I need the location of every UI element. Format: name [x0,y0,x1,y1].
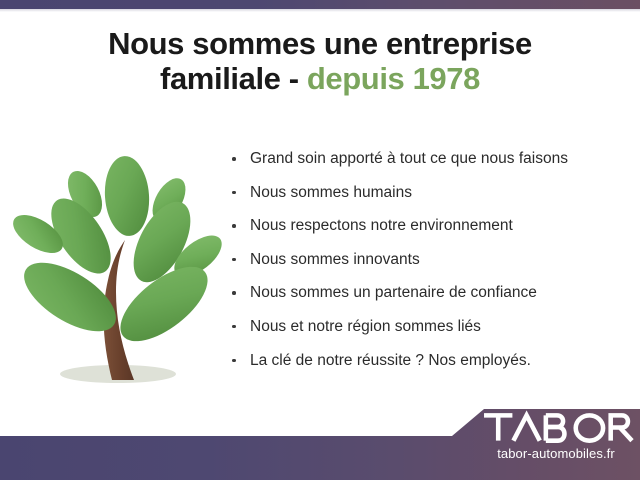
tabor-logo: tabor-automobiles.fr [478,410,638,476]
list-item-label: Grand soin apporté à tout ce que nous fa… [250,150,568,167]
tree-illustration-svg [12,152,224,388]
list-item: Nous sommes un partenaire de confiance [228,284,628,303]
bullet-dot-icon [232,157,236,161]
bullet-dot-icon [232,191,236,195]
list-item-label: Nous sommes humains [250,184,412,201]
title-line-2-plain: familiale - [160,61,299,96]
list-item: La clé de notre réussite ? Nos employés. [228,352,628,371]
list-item-label: Nous sommes innovants [250,251,420,268]
list-item: Nous et notre région sommes liés [228,318,628,337]
tree-illustration [12,152,224,388]
list-item: Nous sommes innovants [228,251,628,270]
bullet-dot-icon [232,258,236,262]
tabor-wordmark-icon [482,410,634,444]
title-line-2: familiale - depuis 1978 [0,61,640,96]
list-item: Grand soin apporté à tout ce que nous fa… [228,150,628,169]
leaf-top-center [102,155,151,238]
page-title: Nous sommes une entreprise familiale - d… [0,26,640,97]
bullet-dot-icon [232,359,236,363]
list-item-label: Nous respectons notre environnement [250,217,513,234]
logo-tagline: tabor-automobiles.fr [478,446,634,461]
title-line-2-accent: depuis 1978 [307,61,480,96]
list-item-label: La clé de notre réussite ? Nos employés. [250,352,531,369]
list-item: Nous respectons notre environnement [228,217,628,236]
list-item-label: Nous et notre région sommes liés [250,318,481,335]
list-item-label: Nous sommes un partenaire de confiance [250,284,537,301]
top-accent-bar [0,0,640,9]
top-accent-bar-shadow [0,9,640,12]
bullet-dot-icon [232,325,236,329]
value-bullet-list: Grand soin apporté à tout ce que nous fa… [228,150,628,370]
bullet-dot-icon [232,291,236,295]
title-line-1: Nous sommes une entreprise [0,26,640,61]
bullet-dot-icon [232,224,236,228]
list-item: Nous sommes humains [228,184,628,203]
slide-canvas: Nous sommes une entreprise familiale - d… [0,0,640,480]
